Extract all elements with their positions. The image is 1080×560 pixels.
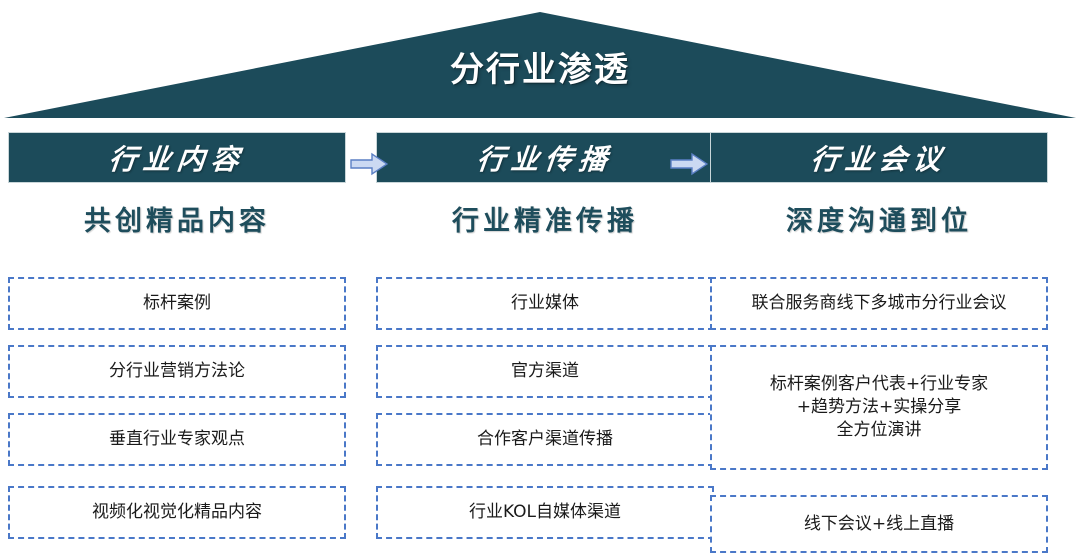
list-item-label: 线下会议+线上直播: [804, 513, 954, 536]
list-item[interactable]: 垂直行业专家观点: [8, 413, 346, 466]
list-item-label: 行业媒体: [511, 292, 579, 315]
list-item-label: 行业KOL自媒体渠道: [469, 501, 621, 524]
column-subtitle-industry-content: 共创精品内容: [8, 199, 346, 238]
list-item[interactable]: 行业KOL自媒体渠道: [376, 486, 714, 539]
column-subtitle-industry-spread: 行业精准传播: [376, 199, 714, 238]
list-item[interactable]: 视频化视觉化精品内容: [8, 486, 346, 539]
item-list-industry-content: 标杆案例 分行业营销方法论 垂直行业专家观点 视频化视觉化精品内容: [8, 277, 346, 555]
column-header-label: 行业会议: [809, 138, 949, 178]
page-title: 分行业渗透: [0, 42, 1080, 91]
list-item-label: 标杆案例: [143, 292, 211, 315]
columns-container: 行业内容 共创精品内容 标杆案例 分行业营销方法论 垂直行业专家观点 视频化视觉…: [0, 132, 1080, 560]
column-industry-spread: 行业传播 行业精准传播 行业媒体 官方渠道 合作客户渠道传播 行业KOL自媒体渠…: [376, 132, 714, 560]
diagram-canvas: 分行业渗透 行业内容 共创精品内容 标杆案例 分行业营销方法论 垂直行业专家观点: [0, 0, 1080, 560]
list-item-label: 视频化视觉化精品内容: [92, 501, 262, 524]
item-list-industry-conference: 联合服务商线下多城市分行业会议 标杆案例客户代表+行业专家 +趋势方法+实操分享…: [710, 277, 1048, 553]
list-item[interactable]: 合作客户渠道传播: [376, 413, 714, 466]
list-item[interactable]: 行业媒体: [376, 277, 714, 330]
list-item[interactable]: 标杆案例客户代表+行业专家 +趋势方法+实操分享 全方位演讲: [710, 345, 1048, 470]
column-industry-conference: 行业会议 深度沟通到位 联合服务商线下多城市分行业会议 标杆案例客户代表+行业专…: [710, 132, 1048, 560]
list-item[interactable]: 标杆案例: [8, 277, 346, 330]
item-list-industry-spread: 行业媒体 官方渠道 合作客户渠道传播 行业KOL自媒体渠道: [376, 277, 714, 555]
arrow-content-to-spread-icon: [350, 152, 388, 176]
list-item-label: 合作客户渠道传播: [477, 428, 613, 451]
column-header-label: 行业内容: [107, 138, 247, 178]
list-item-label: 官方渠道: [511, 360, 579, 383]
list-item-label: 标杆案例客户代表+行业专家 +趋势方法+实操分享 全方位演讲: [770, 373, 988, 441]
list-item[interactable]: 分行业营销方法论: [8, 345, 346, 398]
list-item-label: 联合服务商线下多城市分行业会议: [752, 292, 1007, 315]
list-item-label: 垂直行业专家观点: [109, 428, 245, 451]
column-header-industry-content[interactable]: 行业内容: [8, 132, 346, 183]
column-industry-content: 行业内容 共创精品内容 标杆案例 分行业营销方法论 垂直行业专家观点 视频化视觉…: [8, 132, 346, 560]
column-header-label: 行业传播: [475, 138, 615, 178]
right-arrow-icon: [350, 152, 388, 176]
list-item-label: 分行业营销方法论: [109, 360, 245, 383]
list-item[interactable]: 官方渠道: [376, 345, 714, 398]
column-header-industry-spread[interactable]: 行业传播: [376, 132, 714, 183]
column-subtitle-industry-conference: 深度沟通到位: [710, 199, 1048, 238]
roof-banner: 分行业渗透: [0, 0, 1080, 122]
arrow-spread-to-conference-icon: [670, 152, 708, 176]
list-item[interactable]: 线下会议+线上直播: [710, 495, 1048, 553]
right-arrow-icon: [670, 152, 708, 176]
column-header-industry-conference[interactable]: 行业会议: [710, 132, 1048, 183]
list-item[interactable]: 联合服务商线下多城市分行业会议: [710, 277, 1048, 330]
